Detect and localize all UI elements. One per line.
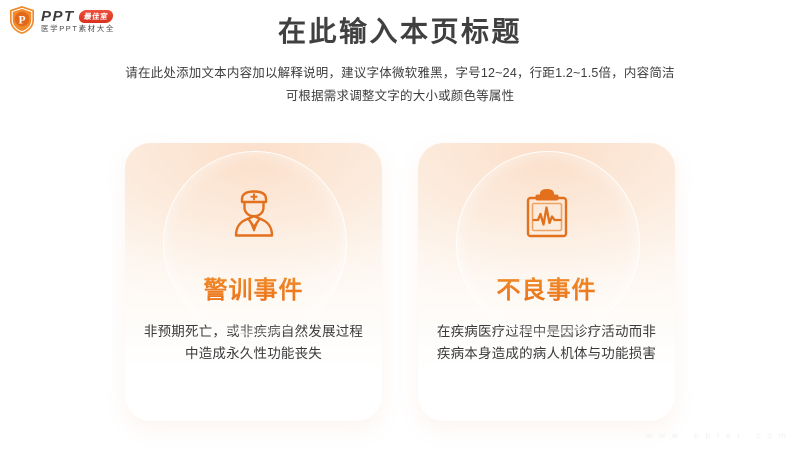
card-heading: 警训事件: [125, 277, 382, 306]
slide-canvas: P PPT 最佳室 医学PPT素材大全 在此输入本页标题 请在此处添加文本内容加…: [0, 0, 800, 450]
doctor-icon: [125, 181, 382, 247]
card-body-text: 非预期死亡，或非疾病自然发展过程中造成永久性功能丧失: [141, 321, 366, 366]
page-subtitle: 请在此处添加文本内容加以解释说明，建议字体微软雅黑，字号12~24，行距1.2~…: [0, 62, 800, 108]
subtitle-line-2: 可根据需求调整文字的大小或颜色等属性: [0, 85, 800, 108]
card-heading: 不良事件: [418, 277, 675, 306]
page-title: 在此输入本页标题: [0, 14, 800, 49]
site-watermark: w w w . p p t e r . c o m: [646, 430, 788, 440]
card-body-text: 在疾病医疗过程中是因诊疗活动而非疾病本身造成的病人机体与功能损害: [434, 321, 659, 366]
clipboard-ecg-icon: [418, 181, 675, 247]
card-sentinel-event[interactable]: 警训事件 非预期死亡，或非疾病自然发展过程中造成永久性功能丧失: [125, 143, 382, 421]
card-adverse-event[interactable]: 不良事件 在疾病医疗过程中是因诊疗活动而非疾病本身造成的病人机体与功能损害: [418, 143, 675, 421]
subtitle-line-1: 请在此处添加文本内容加以解释说明，建议字体微软雅黑，字号12~24，行距1.2~…: [0, 62, 800, 85]
card-row: 警训事件 非预期死亡，或非疾病自然发展过程中造成永久性功能丧失 不良事: [0, 143, 800, 421]
